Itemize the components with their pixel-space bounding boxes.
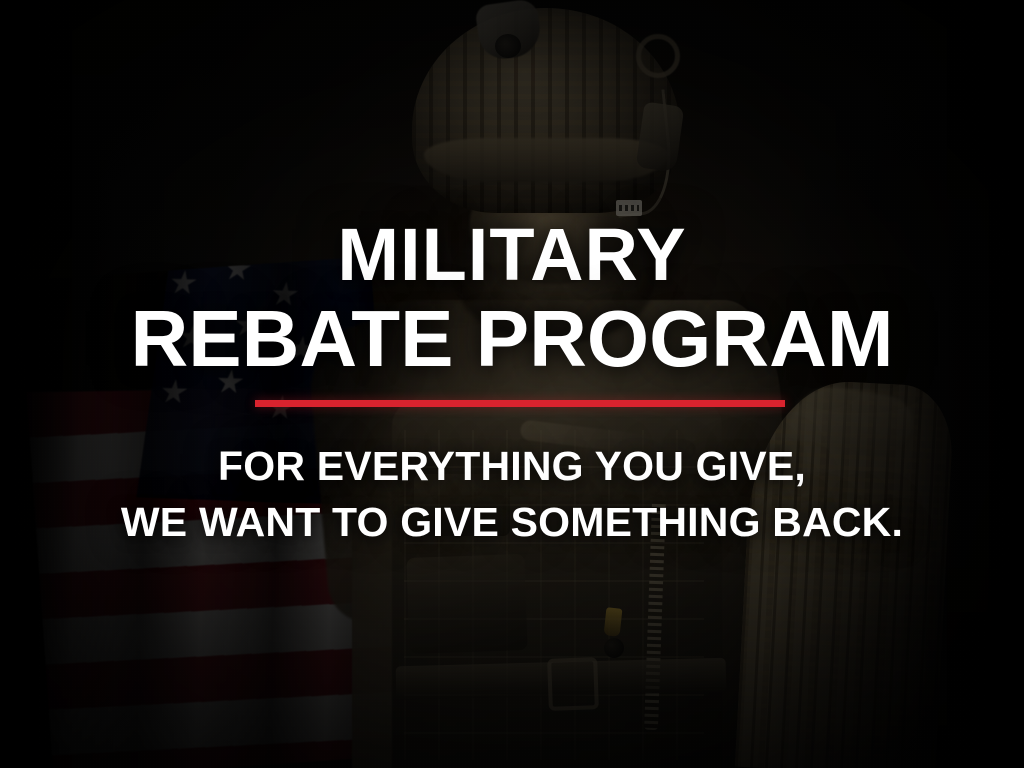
military-rebate-poster: MILITARY REBATE PROGRAM FOR EVERYTHING Y… [0,0,1024,768]
headline-line-1: MILITARY [0,219,1024,292]
text-overlay: MILITARY REBATE PROGRAM FOR EVERYTHING Y… [0,0,1024,768]
red-divider-rule [255,400,785,407]
subhead-line-2: WE WANT TO GIVE SOMETHING BACK. [0,502,1024,543]
subhead-line-1: FOR EVERYTHING YOU GIVE, [0,446,1024,487]
headline-line-2: REBATE PROGRAM [0,300,1024,378]
